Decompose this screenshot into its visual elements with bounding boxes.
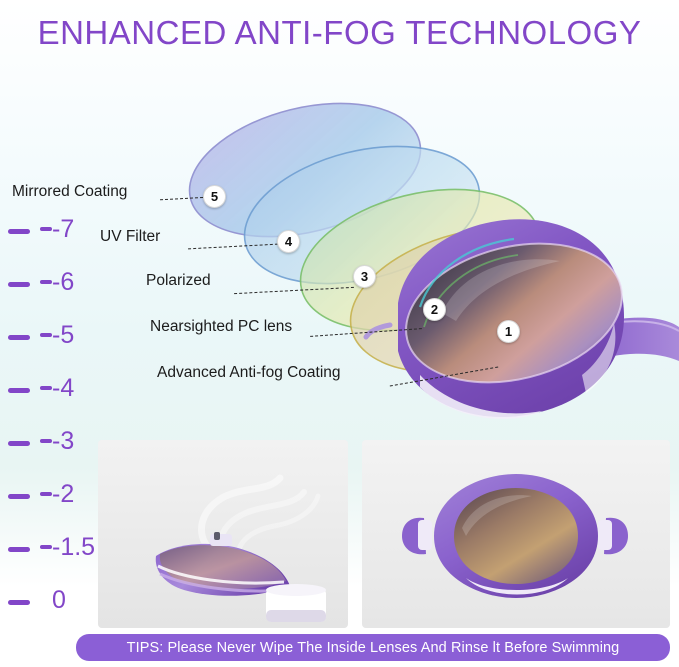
layer-number-4: 4 <box>277 230 300 253</box>
callout-label-mirrored-coating: Mirrored Coating <box>12 183 127 201</box>
scale-tick-icon <box>8 494 30 499</box>
scale-label: -4 <box>52 374 74 403</box>
layer-number-2: 2 <box>423 298 446 321</box>
scale-row: -2 <box>0 480 100 533</box>
scale-dash-icon <box>40 227 52 231</box>
scale-tick-icon <box>8 282 30 287</box>
scale-dash-icon <box>40 439 52 443</box>
page-title: ENHANCED ANTI-FOG TECHNOLOGY <box>0 14 679 52</box>
scale-tick-icon <box>8 335 30 340</box>
scale-label: 0 <box>52 586 66 615</box>
infographic-page: ENHANCED ANTI-FOG TECHNOLOGY <box>0 0 679 667</box>
callout-label-uv-filter: UV Filter <box>100 228 160 246</box>
scale-row: -3 <box>0 427 100 480</box>
scale-label: -2 <box>52 480 74 509</box>
goggles-with-steam-photo <box>98 440 348 628</box>
scale-tick-icon <box>8 229 30 234</box>
tips-text: TIPS: Please Never Wipe The Inside Lense… <box>127 640 620 656</box>
scale-row: -5 <box>0 321 100 374</box>
scale-label: -6 <box>52 268 74 297</box>
layer-number-3: 3 <box>353 265 376 288</box>
scale-dash-icon <box>40 492 52 496</box>
layer-number-5: 5 <box>203 185 226 208</box>
layer-number-1: 1 <box>497 320 520 343</box>
scale-tick-icon <box>8 600 30 605</box>
callout-label-polarized: Polarized <box>146 272 211 290</box>
tips-banner: TIPS: Please Never Wipe The Inside Lense… <box>76 634 670 661</box>
goggles-front-view-photo <box>362 440 670 628</box>
diopter-scale: -7 -6 -5 -4 -3 -2 -1 <box>0 215 100 645</box>
scale-row: -1.5 <box>0 533 100 586</box>
scale-dash-icon <box>40 545 52 549</box>
scale-label: -1.5 <box>52 533 95 562</box>
scale-label: -5 <box>52 321 74 350</box>
scale-dash-icon <box>40 386 52 390</box>
scale-row: -7 <box>0 215 100 268</box>
scale-tick-icon <box>8 441 30 446</box>
scale-label: -3 <box>52 427 74 456</box>
scale-dash-icon <box>40 280 52 284</box>
scale-row: -6 <box>0 268 100 321</box>
callout-label-nearsighted-pc-lens: Nearsighted PC lens <box>150 318 292 336</box>
scale-tick-icon <box>8 388 30 393</box>
scale-dash-icon <box>40 333 52 337</box>
scale-label: -7 <box>52 215 74 244</box>
scale-tick-icon <box>8 547 30 552</box>
scale-row: -4 <box>0 374 100 427</box>
scale-row: 0 <box>0 586 100 639</box>
callout-label-advanced-anti-fog-coating: Advanced Anti-fog Coating <box>157 364 341 382</box>
